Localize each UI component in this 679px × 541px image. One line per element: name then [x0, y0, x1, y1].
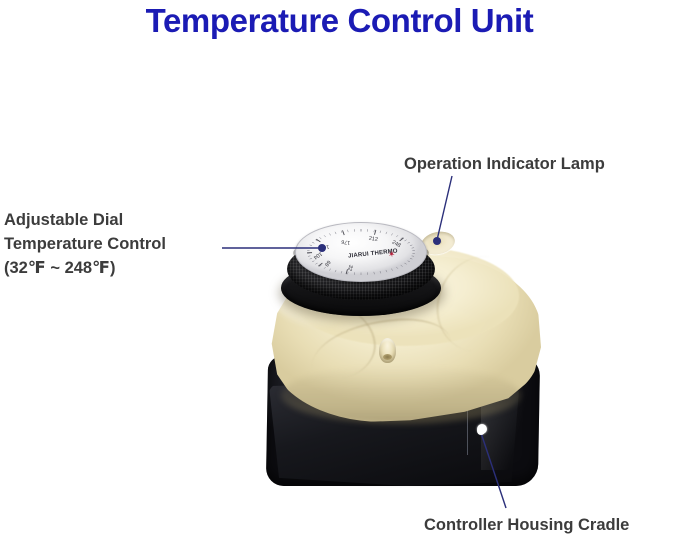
- dial-tick-major: [375, 230, 376, 235]
- dial-tick-minor: [335, 232, 336, 234]
- dial-tick-minor: [374, 272, 375, 274]
- dial-tick-minor: [401, 265, 403, 267]
- dial-tick-minor: [380, 271, 381, 273]
- dial-tick-minor: [396, 235, 398, 237]
- dial-tick-major: [346, 269, 347, 274]
- dial-tick-minor: [348, 272, 349, 274]
- dial-tick-minor: [386, 232, 387, 234]
- dial-tick-minor: [310, 258, 312, 259]
- dial-tick-minor: [312, 242, 314, 243]
- dial-tick-minor: [315, 263, 317, 264]
- dial-tick-minor: [348, 230, 349, 232]
- dial-tick-label: 68: [323, 259, 331, 267]
- dial-brand-mark: ✶: [387, 249, 397, 259]
- dial-tick-minor: [391, 269, 392, 271]
- dial-tick-minor: [310, 245, 312, 246]
- dial-face[interactable]: 3268104140176212248 JIARUI THERMO ✶: [295, 222, 427, 282]
- dial-tick-minor: [404, 263, 406, 264]
- dial-tick-minor: [410, 245, 412, 246]
- callout-line: Temperature Control: [4, 232, 166, 256]
- callout-label-operation-indicator-lamp: Operation Indicator Lamp: [404, 152, 605, 176]
- dial-tick-minor: [408, 242, 410, 243]
- dial-tick-minor: [319, 237, 321, 239]
- adjustable-dial-knob[interactable]: 3268104140176212248 JIARUI THERMO ✶: [277, 216, 447, 328]
- housing-vent-hole-inner: [383, 354, 392, 360]
- dial-tick-label: 212: [368, 236, 378, 243]
- callout-label-adjustable-dial: Adjustable Dial Temperature Control (32℉…: [4, 208, 166, 280]
- callout-label-controller-housing-cradle: Controller Housing Cradle: [424, 513, 629, 537]
- dial-tick-minor: [410, 258, 412, 259]
- dial-tick-minor: [329, 233, 330, 235]
- dial-tick-minor: [335, 270, 336, 272]
- dial-tick-minor: [386, 270, 387, 272]
- dial-tick-minor: [329, 269, 330, 271]
- dial-tick-minor: [374, 230, 375, 232]
- callout-line: Adjustable Dial: [4, 208, 166, 232]
- callout-line: Operation Indicator Lamp: [404, 155, 605, 173]
- dial-tick-label: 176: [341, 238, 351, 245]
- dial-tick-minor: [341, 271, 342, 273]
- cradle-mount-hole: [477, 424, 487, 434]
- page-title: Temperature Control Unit: [0, 2, 679, 40]
- dial-tick-minor: [404, 240, 406, 241]
- callout-line: Controller Housing Cradle: [424, 516, 629, 534]
- dial-tick-major: [343, 230, 345, 235]
- dial-tick-minor: [408, 261, 410, 262]
- dial-tick-minor: [324, 235, 326, 237]
- dial-tick-minor: [391, 233, 392, 235]
- dial-tick-label: 140: [320, 243, 330, 251]
- dial-tick-minor: [324, 267, 326, 269]
- dial-tick-minor: [341, 231, 342, 233]
- callout-line: (32℉ ~ 248℉): [4, 256, 166, 280]
- dial-tick-minor: [312, 261, 314, 262]
- product-callout-diagram: Temperature Control Unit: [0, 0, 679, 541]
- product-illustration: 3268104140176212248 JIARUI THERMO ✶: [253, 216, 553, 486]
- housing-bottom-shading: [281, 366, 521, 424]
- dial-tick-minor: [396, 267, 398, 269]
- dial-tick-minor: [380, 231, 381, 233]
